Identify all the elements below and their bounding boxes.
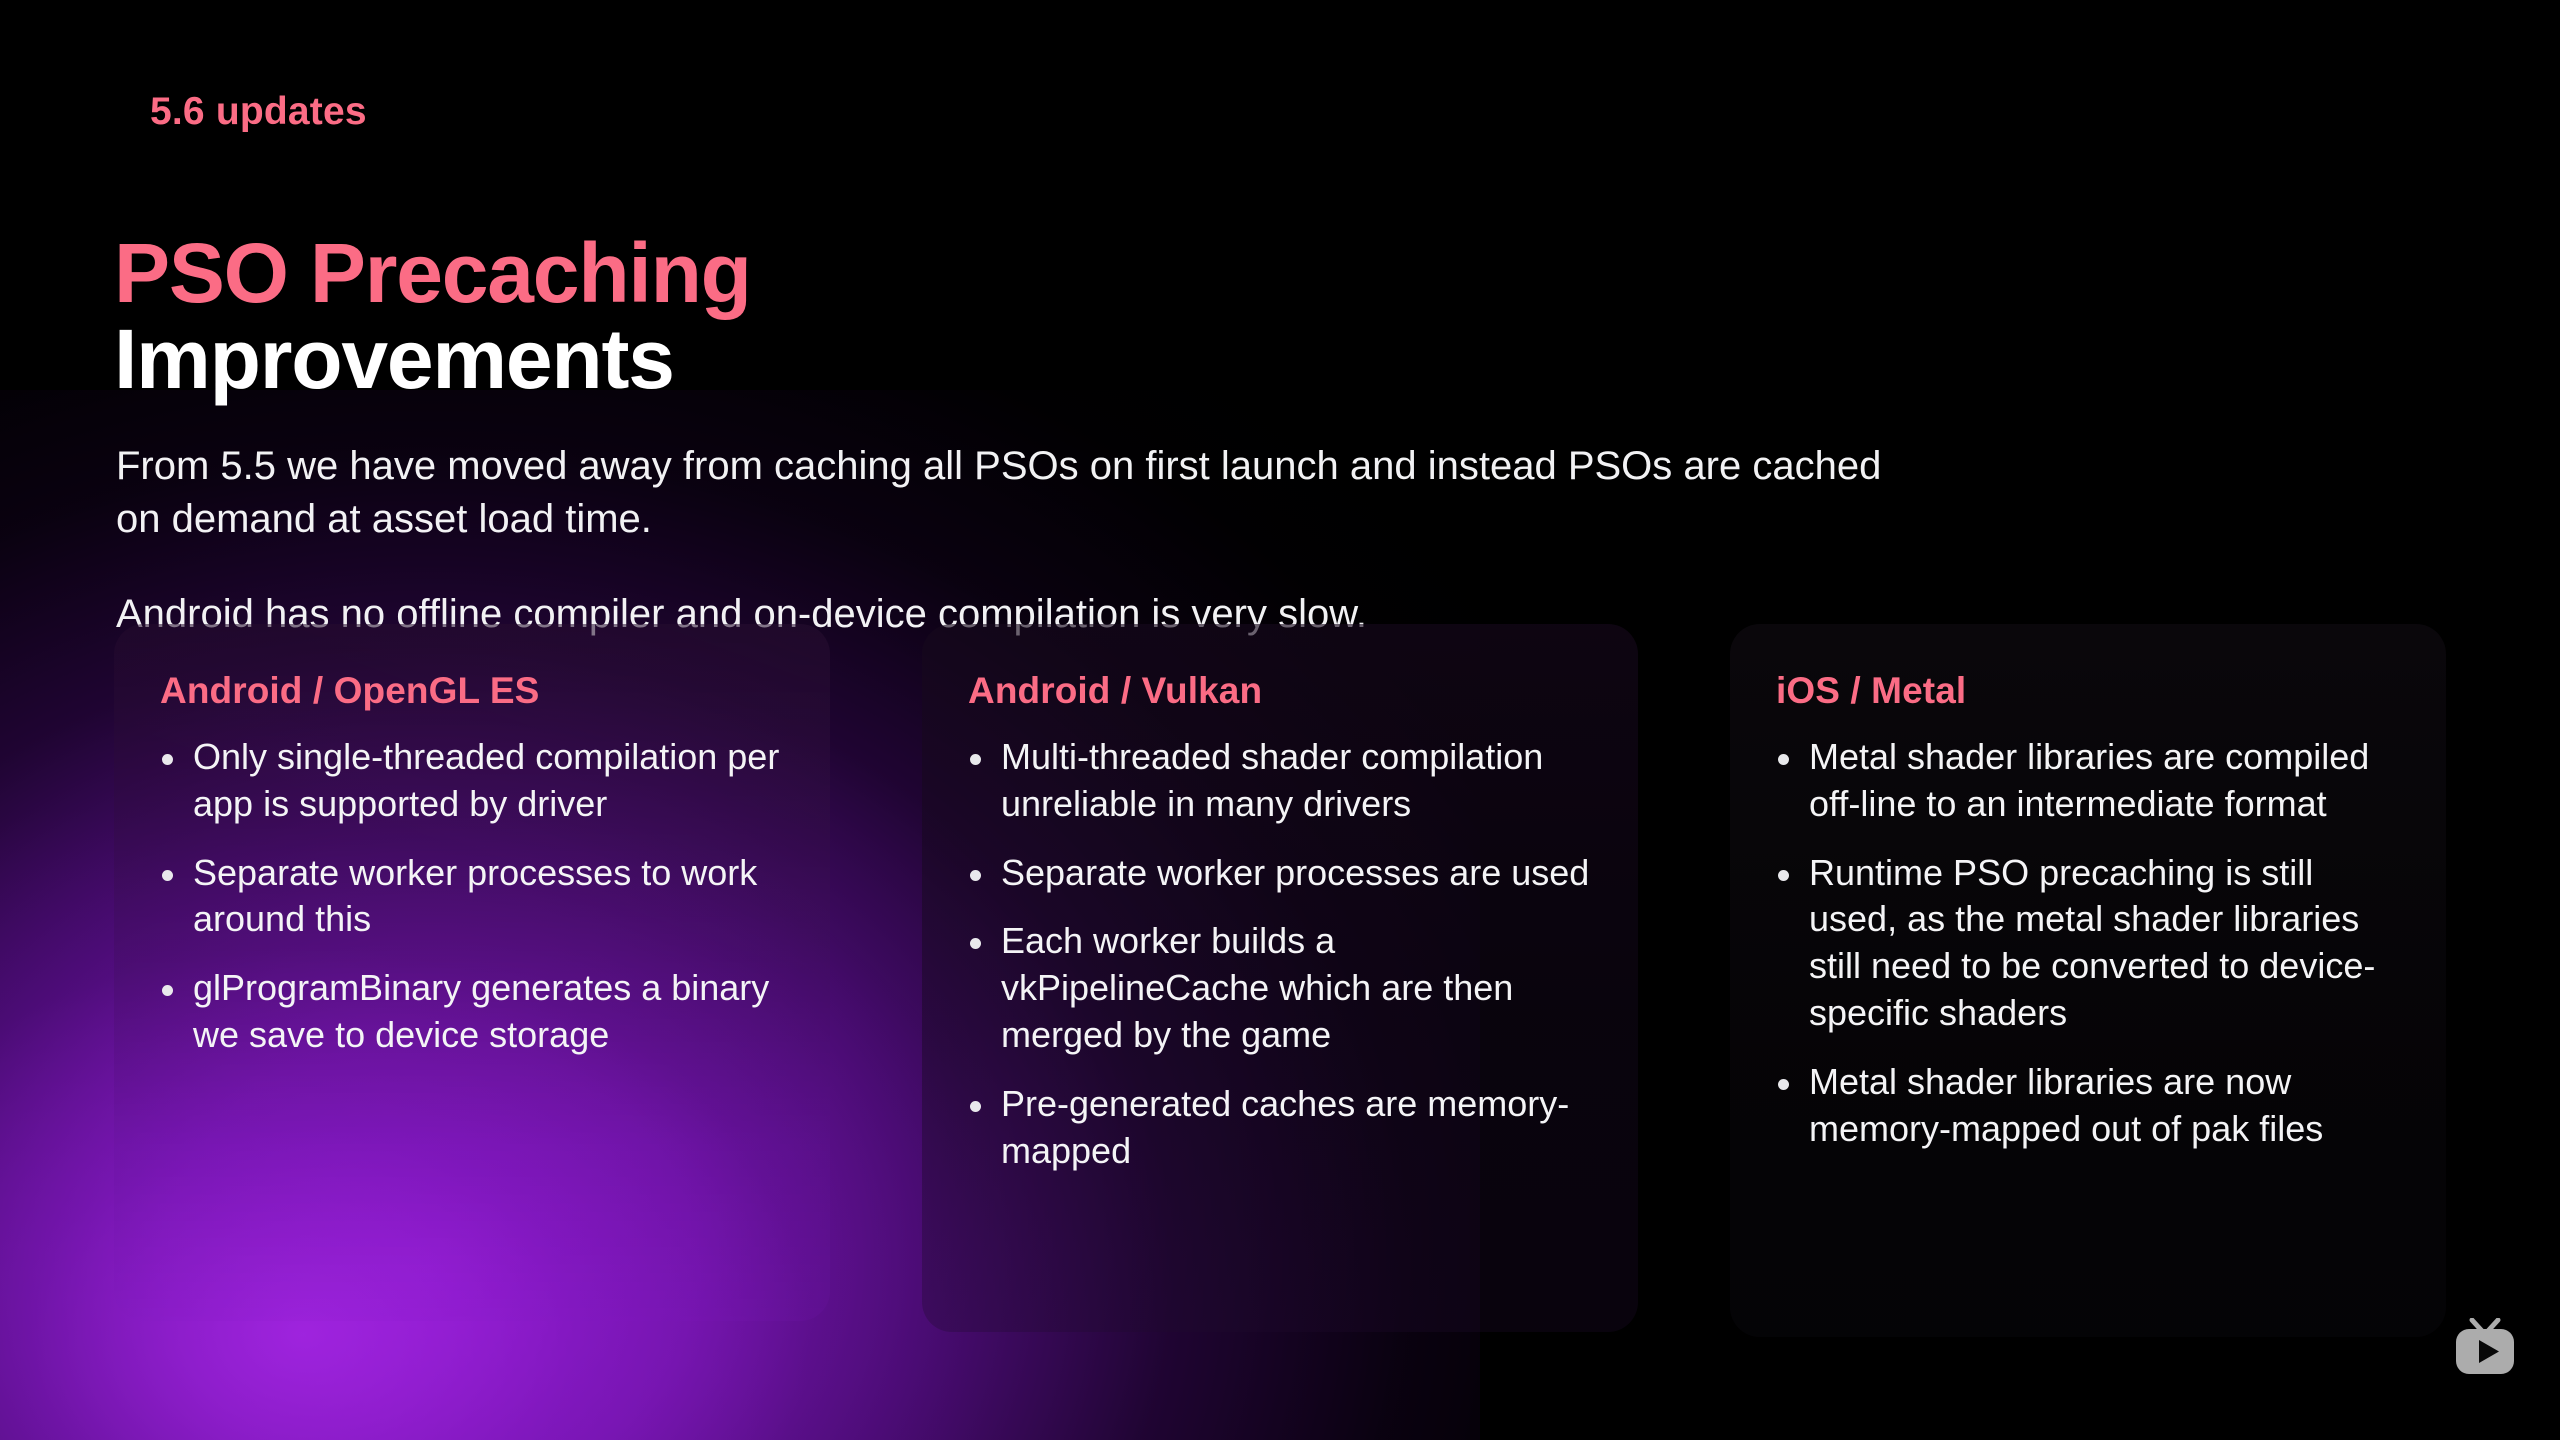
- bullet-text: Multi-threaded shader compilation unreli…: [1001, 734, 1592, 828]
- column-bullet-list: Metal shader libraries are compiled off-…: [1776, 734, 2400, 1152]
- bullet-text: Separate worker processes to work around…: [193, 850, 784, 944]
- column-title: Android / OpenGL ES: [160, 670, 784, 712]
- slide-root: 5.6 updates PSO Precaching Improvements …: [0, 0, 2560, 1440]
- slide-title-line-2: Improvements: [114, 317, 751, 403]
- slide-eyebrow: 5.6 updates: [150, 92, 367, 131]
- slide-paragraph-1: From 5.5 we have moved away from caching…: [116, 440, 1916, 546]
- bullet-text: Separate worker processes are used: [1001, 850, 1589, 897]
- bullet-dot-icon: [970, 754, 981, 765]
- bullet-dot-icon: [162, 870, 173, 881]
- bullet-dot-icon: [970, 870, 981, 881]
- bullet-text: Metal shader libraries are compiled off-…: [1809, 734, 2400, 828]
- column-card-android-opengl-es: Android / OpenGL ES Only single-threaded…: [114, 624, 830, 1321]
- list-item: Metal shader libraries are compiled off-…: [1776, 734, 2400, 828]
- list-item: Separate worker processes to work around…: [160, 850, 784, 944]
- bullet-dot-icon: [970, 1101, 981, 1112]
- bullet-text: Each worker builds a vkPipelineCache whi…: [1001, 918, 1592, 1058]
- column-card-ios-metal: iOS / Metal Metal shader libraries are c…: [1730, 624, 2446, 1337]
- column-title: iOS / Metal: [1776, 670, 2400, 712]
- list-item: Separate worker processes are used: [968, 850, 1592, 897]
- list-item: Pre-generated caches are memory-mapped: [968, 1081, 1592, 1175]
- list-item: Multi-threaded shader compilation unreli…: [968, 734, 1592, 828]
- column-card-android-vulkan: Android / Vulkan Multi-threaded shader c…: [922, 624, 1638, 1332]
- list-item: Metal shader libraries are now memory-ma…: [1776, 1059, 2400, 1153]
- bullet-dot-icon: [1778, 754, 1789, 765]
- bullet-dot-icon: [162, 754, 173, 765]
- bullet-text: Metal shader libraries are now memory-ma…: [1809, 1059, 2400, 1153]
- tv-play-icon: [2452, 1318, 2518, 1378]
- column-bullet-list: Only single-threaded compilation per app…: [160, 734, 784, 1059]
- list-item: glProgramBinary generates a binary we sa…: [160, 965, 784, 1059]
- list-item: Runtime PSO precaching is still used, as…: [1776, 850, 2400, 1037]
- bullet-dot-icon: [1778, 1079, 1789, 1090]
- bullet-text: glProgramBinary generates a binary we sa…: [193, 965, 784, 1059]
- slide-title: PSO Precaching Improvements: [114, 231, 751, 402]
- bullet-dot-icon: [970, 938, 981, 949]
- column-title: Android / Vulkan: [968, 670, 1592, 712]
- bullet-text: Pre-generated caches are memory-mapped: [1001, 1081, 1592, 1175]
- list-item: Only single-threaded compilation per app…: [160, 734, 784, 828]
- slide-title-line-1: PSO Precaching: [114, 231, 751, 317]
- bullet-dot-icon: [1778, 870, 1789, 881]
- bullet-dot-icon: [162, 985, 173, 996]
- column-bullet-list: Multi-threaded shader compilation unreli…: [968, 734, 1592, 1174]
- bullet-text: Runtime PSO precaching is still used, as…: [1809, 850, 2400, 1037]
- columns-container: Android / OpenGL ES Only single-threaded…: [0, 624, 2560, 1344]
- bullet-text: Only single-threaded compilation per app…: [193, 734, 784, 828]
- list-item: Each worker builds a vkPipelineCache whi…: [968, 918, 1592, 1058]
